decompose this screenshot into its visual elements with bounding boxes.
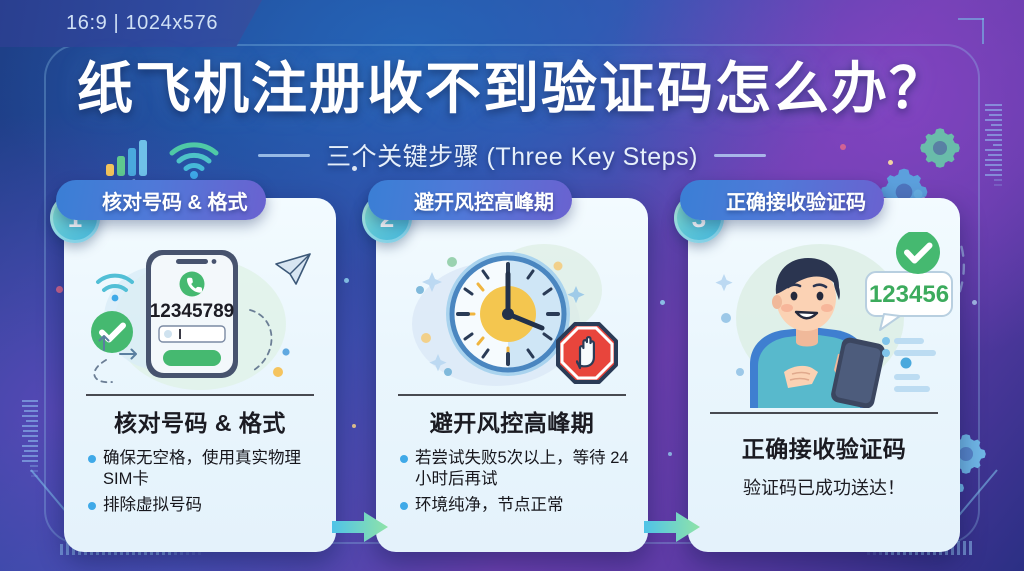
frame-corner-top-right-horizontal [958, 18, 984, 20]
title-block: 纸飞机注册收不到验证码怎么办？ 三个关键步骤 (Three Key Steps) [0, 44, 1024, 173]
step-1-divider [86, 394, 314, 396]
steps-container: 核对号码 & 格式 1 [0, 180, 1024, 552]
bullet-dot-icon [88, 455, 96, 463]
svg-text:123456: 123456 [869, 281, 949, 308]
aspect-ratio-label: 16:9 | 1024x576 [66, 12, 218, 35]
step-3-subtitle: 验证码已成功送达！ [704, 474, 944, 500]
step-1-header: 核对号码 & 格式 [56, 180, 266, 220]
step-2-title: 避开风控高峰期 [392, 404, 632, 438]
bullet-item: 若尝试失败5次以上，等待 24小时后再试 [400, 448, 632, 490]
step-3-body: 正确接收验证码 验证码已成功送达！ [688, 430, 960, 500]
wifi-icon [168, 140, 220, 180]
page-subtitle: 三个关键步骤 (Three Key Steps) [326, 137, 698, 173]
step-1-header-label: 核对号码 & 格式 [102, 186, 248, 215]
step-3-illustration: 123456 [688, 232, 960, 408]
step-2-divider [398, 394, 626, 396]
step-card-1[interactable]: 核对号码 & 格式 1 [64, 198, 336, 552]
page-title: 纸飞机注册收不到验证码怎么办？ [0, 44, 1024, 125]
bullet-dot-icon [400, 455, 408, 463]
bullet-item: 环境纯净，节点正常 [400, 495, 632, 516]
frame-corner-top-right-vertical [982, 18, 984, 44]
bullet-dot-icon [400, 502, 408, 510]
subtitle-dash-right [714, 154, 766, 157]
bullet-item: 排除虚拟号码 [88, 495, 320, 516]
signal-bars-icon [104, 138, 152, 178]
bullet-dot-icon [88, 502, 96, 510]
step-2-illustration [376, 232, 648, 390]
infographic-canvas: 16:9 | 1024x576 纸飞机注册收不到验证码怎么办？ 三个关键步骤 (… [0, 0, 1024, 571]
bullet-text: 环境纯净，节点正常 [415, 495, 564, 516]
svg-text:12345789: 12345789 [150, 301, 235, 322]
step-3-header-label: 正确接收验证码 [726, 186, 866, 215]
arrow-right-icon [332, 510, 388, 544]
bullet-item: 确保无空格，使用真实物理SIM卡 [88, 448, 320, 490]
step-1-illustration: 12345789 [64, 232, 336, 390]
subtitle-dash-left [258, 154, 310, 157]
step-3-divider [710, 412, 938, 414]
bullet-text: 确保无空格，使用真实物理SIM卡 [103, 448, 320, 490]
step-1-title: 核对号码 & 格式 [80, 404, 320, 438]
step-3-header: 正确接收验证码 [680, 180, 884, 220]
step-card-2[interactable]: 避开风控高峰期 2 [376, 198, 648, 552]
step-2-body: 避开风控高峰期 若尝试失败5次以上，等待 24小时后再试 环境纯净，节点正常 [376, 404, 648, 521]
step-2-bullets: 若尝试失败5次以上，等待 24小时后再试 环境纯净，节点正常 [392, 448, 632, 516]
step-1-bullets: 确保无空格，使用真实物理SIM卡 排除虚拟号码 [80, 448, 320, 516]
step-card-3[interactable]: 正确接收验证码 3 [688, 198, 960, 552]
subtitle-row: 三个关键步骤 (Three Key Steps) [0, 137, 1024, 173]
arrow-right-icon [644, 510, 700, 544]
step-3-title: 正确接收验证码 [704, 430, 944, 464]
bullet-text: 排除虚拟号码 [103, 495, 202, 516]
bullet-text: 若尝试失败5次以上，等待 24小时后再试 [415, 448, 632, 490]
step-2-header-label: 避开风控高峰期 [414, 186, 554, 215]
step-2-header: 避开风控高峰期 [368, 180, 572, 220]
step-1-body: 核对号码 & 格式 确保无空格，使用真实物理SIM卡 排除虚拟号码 [64, 404, 336, 521]
aspect-ratio-badge: 16:9 | 1024x576 [0, 0, 262, 47]
